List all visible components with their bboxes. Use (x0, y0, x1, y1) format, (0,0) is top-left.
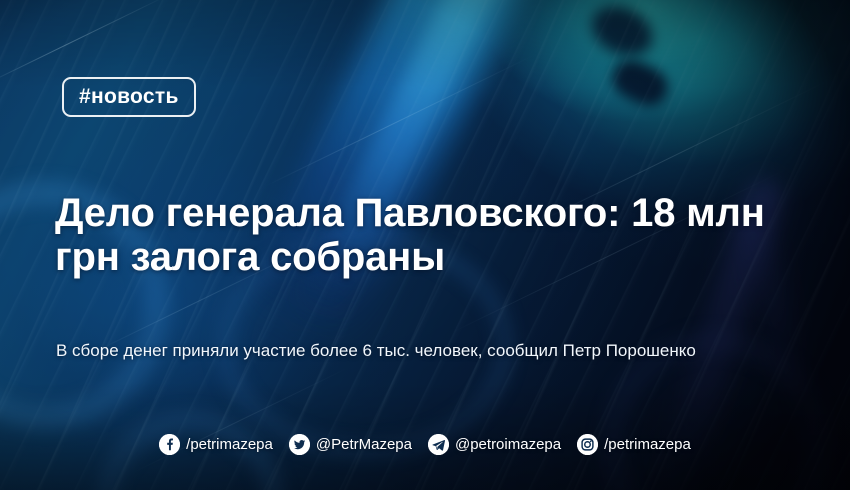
social-link-facebook[interactable]: /petrimazepa (159, 434, 273, 455)
social-handle: @petroimazepa (455, 436, 561, 453)
social-handle: /petrimazepa (186, 436, 273, 453)
instagram-icon (577, 434, 598, 455)
social-handle: /petrimazepa (604, 436, 691, 453)
headline: Дело генерала Павловского: 18 млн грн за… (55, 191, 785, 279)
twitter-icon (289, 434, 310, 455)
hashtag-badge[interactable]: #новость (62, 77, 196, 117)
subtitle: В сборе денег приняли участие более 6 ты… (56, 340, 816, 362)
social-handle: @PetrMazepa (316, 436, 412, 453)
social-link-telegram[interactable]: @petroimazepa (428, 434, 561, 455)
card-content: #новость Дело генерала Павловского: 18 м… (0, 0, 850, 490)
social-bar: /petrimazepa @PetrMazepa (0, 434, 850, 455)
social-link-instagram[interactable]: /petrimazepa (577, 434, 691, 455)
telegram-icon (428, 434, 449, 455)
facebook-icon (159, 434, 180, 455)
news-card: #новость Дело генерала Павловского: 18 м… (0, 0, 850, 490)
social-link-twitter[interactable]: @PetrMazepa (289, 434, 412, 455)
